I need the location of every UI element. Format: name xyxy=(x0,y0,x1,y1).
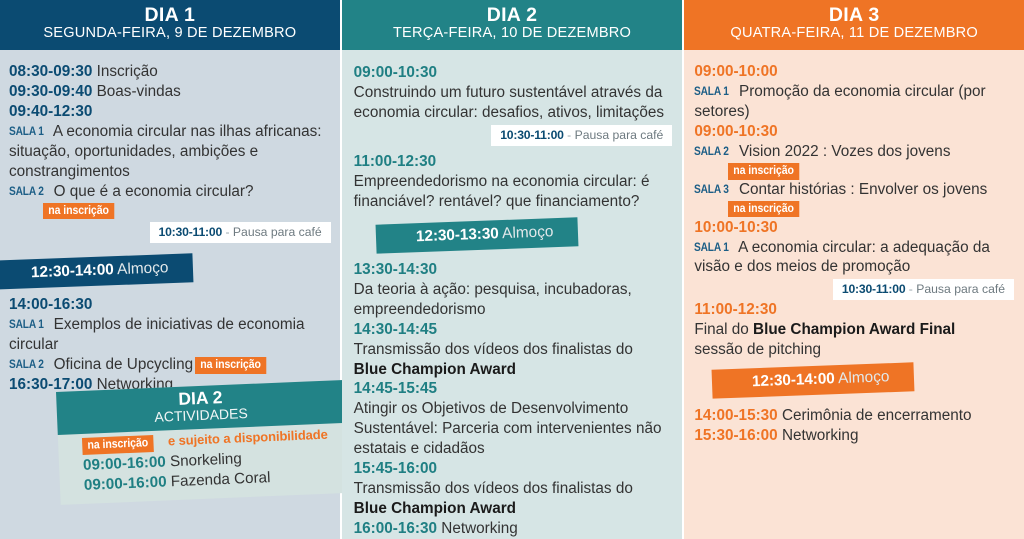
day2-subtitle: TERÇA-FEIRA, 10 DE DEZEMBRO xyxy=(342,26,683,41)
day3-body: 09:00-10:00 SALA 1 Promoção da economia … xyxy=(684,50,1024,446)
coffee-time: 10:30-11:00 xyxy=(842,282,906,296)
day3-block5: 14:00-15:30 Cerimônia de encerramento xyxy=(694,406,1014,426)
day2-block1-time: 09:00-10:30 xyxy=(354,63,673,83)
sala-label: SALA 1 xyxy=(694,83,729,99)
coffee-separator: - xyxy=(909,282,913,296)
registration-badge[interactable]: na inscrição xyxy=(728,163,799,180)
session-title: Construindo um futuro sustentável atravé… xyxy=(354,84,664,121)
time-label: 09:30-09:40 xyxy=(9,83,92,100)
day2-block5-desc: Atingir os Objetivos de Desenvolvimento … xyxy=(354,399,673,459)
event-label: Inscrição xyxy=(97,63,158,80)
time-label: 09:00-10:00 xyxy=(694,63,777,80)
day2-block6-award: Blue Champion Award xyxy=(354,499,673,519)
day3-block4-sub: sessão de pitching xyxy=(694,340,1014,360)
time-label: 09:00-16:00 xyxy=(84,473,167,493)
lunch-time: 12:30-14:00 xyxy=(31,261,114,281)
coffee-time: 10:30-11:00 xyxy=(500,128,564,142)
session-title: Vision 2022 : Vozes dos jovens xyxy=(739,143,950,160)
award-name: Blue Champion Award Final xyxy=(753,321,955,338)
time-label: 16:00-16:30 xyxy=(354,520,437,537)
award-name: Blue Champion Award xyxy=(354,361,516,378)
day2-coffee-break-row: 10:30-11:00 - Pausa para café xyxy=(354,125,673,146)
registration-badge[interactable]: na inscrição xyxy=(82,435,154,455)
event-label: Networking xyxy=(441,520,518,537)
day2-block4-time: 14:30-14:45 xyxy=(354,320,673,340)
session-title: Oficina de Upcycling xyxy=(54,356,193,373)
activity-label: Snorkeling xyxy=(170,450,242,470)
day3-block2-sala2: SALA 2 Vision 2022 : Vozes dos jovens xyxy=(694,142,1014,162)
time-label: 13:30-14:30 xyxy=(354,261,437,278)
day3-block3-session: SALA 1 A economia circular: a adequação … xyxy=(694,238,1014,278)
lunch-label: Almoço xyxy=(117,259,169,278)
day1-title: DIA 1 xyxy=(0,5,340,25)
day1-item-2: 09:30-09:40 Boas-vindas xyxy=(9,82,331,102)
registration-badge[interactable]: na inscrição xyxy=(728,201,799,218)
day3-block6: 15:30-16:00 Networking xyxy=(694,426,1014,446)
day2-block6-time: 15:45-16:00 xyxy=(354,459,673,479)
day3-block2-time: 09:00-10:30 xyxy=(694,122,1014,142)
day2-block4-award: Blue Champion Award xyxy=(354,360,673,380)
time-label: 08:30-09:30 xyxy=(9,63,92,80)
session-prefix: Final do xyxy=(694,321,753,338)
day2-block3-time: 13:30-14:30 xyxy=(354,260,673,280)
time-label: 09:00-10:30 xyxy=(354,64,437,81)
time-label: 15:30-16:00 xyxy=(694,427,777,444)
day2-block5-time: 14:45-15:45 xyxy=(354,379,673,399)
time-label: 11:00-12:30 xyxy=(354,153,437,170)
session-title: Da teoria à ação: pesquisa, incubadoras,… xyxy=(354,281,632,318)
day2-block3-desc: Da teoria à ação: pesquisa, incubadoras,… xyxy=(354,280,673,320)
day2-block2-time: 11:00-12:30 xyxy=(354,152,673,172)
activities-note: e sujeito a disponibilidade xyxy=(168,427,328,449)
event-label: Boas-vindas xyxy=(97,83,181,100)
sala-label: SALA 2 xyxy=(9,183,44,199)
session-title: A economia circular nas ilhas africanas:… xyxy=(9,123,322,180)
session-title: Contar histórias : Envolver os jovens xyxy=(739,181,987,198)
day1-afternoon-sala1: SALA 1 Exemplos de iniciativas de econom… xyxy=(9,315,331,355)
day1-subtitle: SEGUNDA-FEIRA, 9 DE DEZEMBRO xyxy=(0,26,340,41)
coffee-separator: - xyxy=(567,128,571,142)
sala-label: SALA 1 xyxy=(9,316,44,332)
day-column-2: DIA 2 TERÇA-FEIRA, 10 DE DEZEMBRO 09:00-… xyxy=(342,0,683,539)
coffee-break-box: 10:30-11:00 - Pausa para café xyxy=(150,222,331,243)
time-label: 14:00-15:30 xyxy=(694,407,777,424)
session-title: A economia circular: a adequação da visã… xyxy=(694,239,990,276)
session-title: Promoção da economia circular (por setor… xyxy=(694,83,985,120)
time-label: 14:30-14:45 xyxy=(354,321,437,338)
sala-label: SALA 3 xyxy=(694,181,729,197)
day1-sala2-session: SALA 2 O que é a economia circular? xyxy=(9,182,331,202)
activities-card: DIA 2 ACTIVIDADES na inscriçãoe sujeito … xyxy=(56,380,348,505)
coffee-label: Pausa para café xyxy=(916,282,1005,296)
day2-block6-desc: Transmissão dos vídeos dos finalistas do xyxy=(354,479,673,499)
day3-coffee-break-row: 10:30-11:00 - Pausa para café xyxy=(694,279,1014,300)
lunch-label: Almoço xyxy=(502,223,554,242)
time-label: 11:00-12:30 xyxy=(694,301,777,318)
coffee-break-box: 10:30-11:00 - Pausa para café xyxy=(491,125,672,146)
day2-block7: 16:00-16:30 Networking xyxy=(354,519,673,539)
day3-block2-sala3: SALA 3 Contar histórias : Envolver os jo… xyxy=(694,180,1014,200)
session-title: Transmissão dos vídeos dos finalistas do xyxy=(354,341,633,358)
day1-registration-badge-row: na inscrição xyxy=(9,202,331,220)
day2-lunch-row: 12:30-13:30 Almoço xyxy=(376,221,673,250)
registration-badge[interactable]: na inscrição xyxy=(43,203,114,220)
time-label: 14:00-16:30 xyxy=(9,296,92,313)
lunch-bar: 12:30-13:30 Almoço xyxy=(375,217,577,254)
time-label: 14:45-15:45 xyxy=(354,380,437,397)
day1-item-3: 09:40-12:30 xyxy=(9,102,331,122)
day3-title: DIA 3 xyxy=(684,5,1024,25)
session-title: Atingir os Objetivos de Desenvolvimento … xyxy=(354,400,662,457)
coffee-label: Pausa para café xyxy=(233,225,322,239)
agenda-schedule: DIA 1 SEGUNDA-FEIRA, 9 DE DEZEMBRO 08:30… xyxy=(0,0,1024,539)
session-title: Transmissão dos vídeos dos finalistas do xyxy=(354,480,633,497)
award-name: Blue Champion Award xyxy=(354,500,516,517)
day3-sala3-badge-row: na inscrição xyxy=(694,200,1014,218)
day3-block4-desc: Final do Blue Champion Award Final xyxy=(694,320,1014,340)
session-subtitle: sessão de pitching xyxy=(694,341,821,358)
day3-header: DIA 3 QUATRA-FEIRA, 11 DE DEZEMBRO xyxy=(684,0,1024,50)
day3-block4-time: 11:00-12:30 xyxy=(694,300,1014,320)
event-label: Networking xyxy=(782,427,859,444)
day2-title: DIA 2 xyxy=(342,5,683,25)
coffee-break-box: 10:30-11:00 - Pausa para café xyxy=(833,279,1014,300)
day3-block1-session: SALA 1 Promoção da economia circular (po… xyxy=(694,82,1014,122)
day2-body: 09:00-10:30 Construindo um futuro susten… xyxy=(342,50,683,538)
sala-label: SALA 1 xyxy=(9,123,44,139)
day1-afternoon-time: 14:00-16:30 xyxy=(9,295,331,315)
time-label: 09:00-16:00 xyxy=(83,453,166,473)
sala-label: SALA 2 xyxy=(694,143,729,159)
day3-block3-time: 10:00-10:30 xyxy=(694,218,1014,238)
day2-block2-desc: Empreendedorismo na economia circular: é… xyxy=(354,172,673,212)
day1-sala1-session: SALA 1 A economia circular nas ilhas afr… xyxy=(9,122,331,182)
day2-block4-desc: Transmissão dos vídeos dos finalistas do xyxy=(354,340,673,360)
time-label: 09:40-12:30 xyxy=(9,103,92,120)
coffee-separator: - xyxy=(225,225,229,239)
sala-label: SALA 2 xyxy=(9,356,44,372)
lunch-label: Almoço xyxy=(838,368,890,387)
day1-coffee-break-row: 10:30-11:00 - Pausa para café xyxy=(9,222,331,243)
day-column-3: DIA 3 QUATRA-FEIRA, 11 DE DEZEMBRO 09:00… xyxy=(684,0,1024,539)
day1-afternoon-sala2: SALA 2 Oficina de Upcyclingna inscrição xyxy=(9,355,331,375)
lunch-bar: 12:30-14:00 Almoço xyxy=(0,253,193,290)
lunch-time: 12:30-13:30 xyxy=(415,225,498,245)
coffee-time: 10:30-11:00 xyxy=(159,225,223,239)
lunch-bar: 12:30-14:00 Almoço xyxy=(712,362,914,399)
session-title: O que é a economia circular? xyxy=(54,183,254,200)
day3-lunch-row: 12:30-14:00 Almoço xyxy=(712,366,1014,395)
day2-header: DIA 2 TERÇA-FEIRA, 10 DE DEZEMBRO xyxy=(342,0,683,50)
day1-body: 08:30-09:30 Inscrição 09:30-09:40 Boas-v… xyxy=(0,50,340,394)
day-column-1: DIA 1 SEGUNDA-FEIRA, 9 DE DEZEMBRO 08:30… xyxy=(0,0,340,539)
event-label: Cerimônia de encerramento xyxy=(782,407,972,424)
time-label: 10:00-10:30 xyxy=(694,219,777,236)
time-label: 09:00-10:30 xyxy=(694,123,777,140)
day1-header: DIA 1 SEGUNDA-FEIRA, 9 DE DEZEMBRO xyxy=(0,0,340,50)
session-title: Empreendedorismo na economia circular: é… xyxy=(354,173,650,210)
sala-label: SALA 1 xyxy=(694,239,729,255)
coffee-label: Pausa para café xyxy=(575,128,664,142)
session-title: Exemplos de iniciativas de economia circ… xyxy=(9,316,305,353)
registration-badge[interactable]: na inscrição xyxy=(195,357,266,374)
time-label: 15:45-16:00 xyxy=(354,460,437,477)
day1-lunch-row: 12:30-14:00 Almoço xyxy=(0,257,331,286)
activity-label: Fazenda Coral xyxy=(170,469,270,490)
lunch-time: 12:30-14:00 xyxy=(752,370,835,390)
day3-block1-time: 09:00-10:00 xyxy=(694,62,1014,82)
day3-sala2-badge-row: na inscrição xyxy=(694,162,1014,180)
day3-subtitle: QUATRA-FEIRA, 11 DE DEZEMBRO xyxy=(684,26,1024,41)
day2-block1-desc: Construindo um futuro sustentável atravé… xyxy=(354,83,673,123)
day1-item-1: 08:30-09:30 Inscrição xyxy=(9,62,331,82)
